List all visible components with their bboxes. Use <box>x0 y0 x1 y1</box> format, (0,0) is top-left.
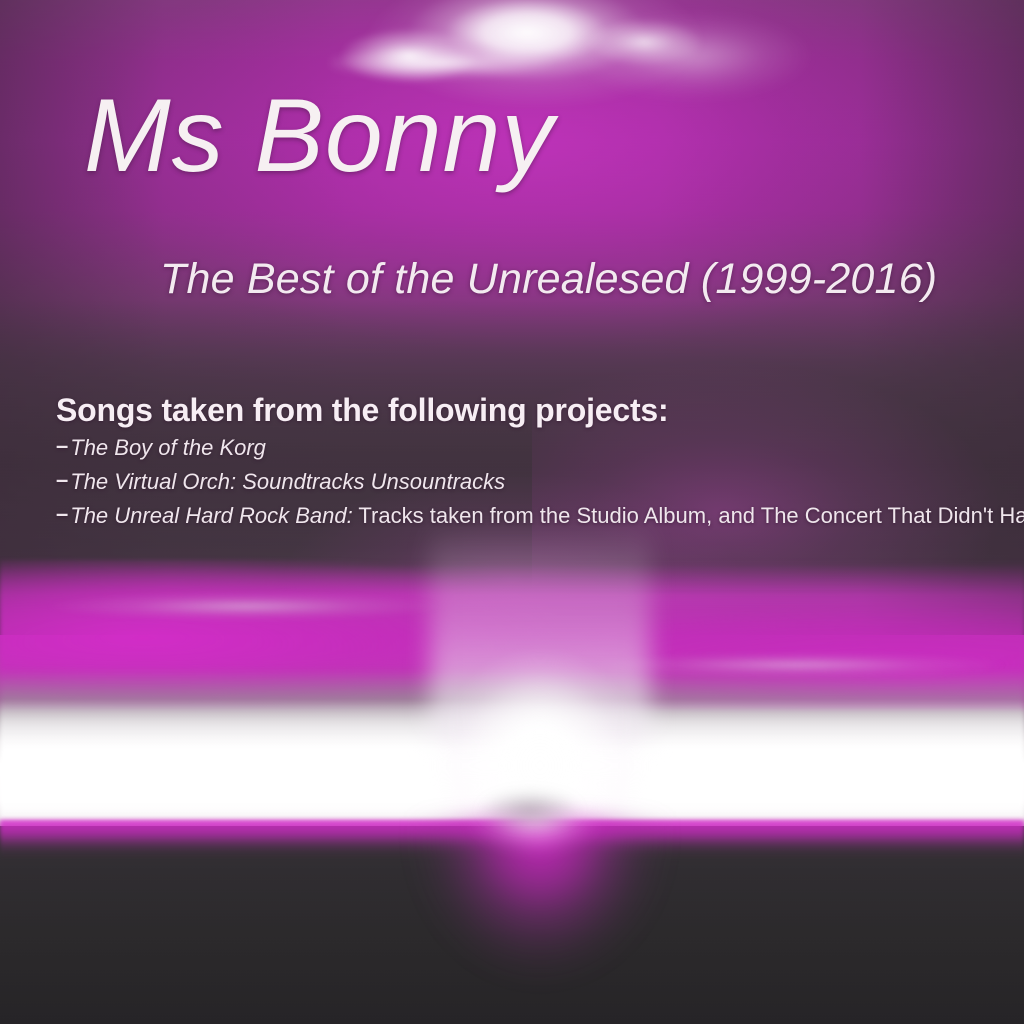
project-list: –The Boy of the Korg –The Virtual Orch: … <box>56 437 1024 539</box>
project-name: The Boy of the Korg <box>70 435 266 460</box>
album-artist-title: Ms Bonny <box>84 82 554 191</box>
list-item: –The Unreal Hard Rock Band: Tracks taken… <box>56 505 1024 527</box>
dash-bullet-icon: – <box>56 469 68 491</box>
dash-bullet-icon: – <box>56 503 68 525</box>
project-description: Tracks taken from the Studio Album, and … <box>353 503 1024 528</box>
album-subtitle: The Best of the Unrealesed (1999-2016) <box>160 255 937 304</box>
list-item: –The Virtual Orch: Soundtracks Unsountra… <box>56 471 1024 493</box>
list-item: –The Boy of the Korg <box>56 437 1024 459</box>
project-name: The Virtual Orch: Soundtracks Unsountrac… <box>70 469 505 494</box>
projects-heading: Songs taken from the following projects: <box>56 392 669 429</box>
album-cover: Ms Bonny The Best of the Unrealesed (199… <box>0 0 1024 1024</box>
project-name: The Unreal Hard Rock Band: <box>70 503 352 528</box>
cover-text-layer: Ms Bonny The Best of the Unrealesed (199… <box>0 0 1024 1024</box>
dash-bullet-icon: – <box>56 435 68 457</box>
